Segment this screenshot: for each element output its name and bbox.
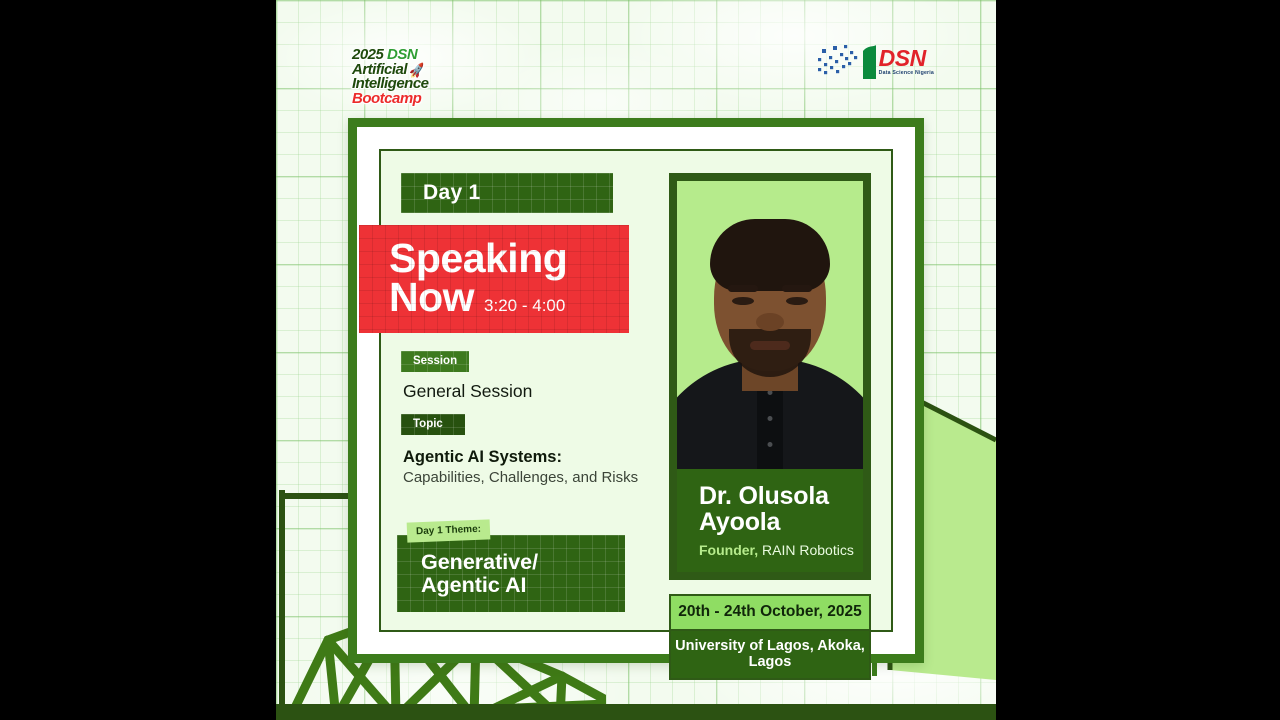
dsn-dots-icon <box>816 44 860 80</box>
speaker-name-box: Dr. Olusola Ayoola Founder, RAIN Robotic… <box>677 469 863 572</box>
day-theme-box: Generative/ Agentic AI <box>397 535 625 612</box>
topic-title: Agentic AI Systems: <box>403 447 649 468</box>
session-info: Session General Session Topic Agentic AI… <box>401 351 649 487</box>
nigeria-flag-icon <box>863 45 876 79</box>
speaker-role-org: RAIN Robotics <box>762 542 854 558</box>
session-time: 3:20 - 4:00 <box>484 296 565 316</box>
speaking-now-line1: Speaking <box>389 239 615 278</box>
day-theme-line2: Agentic AI <box>421 574 611 598</box>
session-chip: Session <box>401 351 469 372</box>
day-badge-label: Day 1 <box>423 181 481 205</box>
floor-bar <box>276 704 996 720</box>
speaker-name-line1: Dr. Olusola <box>699 482 829 510</box>
dsn-logo: DSN Data Science Nigeria <box>816 44 934 80</box>
session-card: Day 1 Speaking Now 3:20 - 4:00 Session G… <box>348 118 924 663</box>
speaker-role: Founder, RAIN Robotics <box>699 542 859 558</box>
session-value: General Session <box>403 381 649 402</box>
speaker-role-prefix: Founder, <box>699 542 758 558</box>
day-badge: Day 1 <box>401 173 613 213</box>
speaking-now-line2: Now <box>389 278 474 317</box>
session-card-inner: Day 1 Speaking Now 3:20 - 4:00 Session G… <box>379 149 893 632</box>
speaker-name: Dr. Olusola Ayoola <box>699 483 859 535</box>
card-right-column: Dr. Olusola Ayoola Founder, RAIN Robotic… <box>669 173 871 612</box>
screenshot-stage: 2025 DSN Artificial🚀 Intelligence Bootca… <box>0 0 1280 720</box>
event-dates: 20th - 24th October, 2025 <box>669 594 871 631</box>
day-theme-section: Day 1 Theme: Generative/ Agentic AI <box>401 519 649 612</box>
event-details: 20th - 24th October, 2025 University of … <box>669 580 871 680</box>
dsn-wordmark: DSN <box>879 47 934 70</box>
speaker-photo-frame: Dr. Olusola Ayoola Founder, RAIN Robotic… <box>669 173 871 580</box>
speaking-now-banner: Speaking Now 3:20 - 4:00 <box>359 225 629 333</box>
topic-subtitle: Capabilities, Challenges, and Risks <box>403 469 649 488</box>
bootcamp-logo: 2025 DSN Artificial🚀 Intelligence Bootca… <box>352 48 429 107</box>
card-left-column: Day 1 Speaking Now 3:20 - 4:00 Session G… <box>401 173 649 612</box>
day-theme-tag: Day 1 Theme: <box>407 519 491 542</box>
topic-chip: Topic <box>401 414 465 435</box>
speaker-portrait <box>677 181 863 469</box>
poster-canvas: 2025 DSN Artificial🚀 Intelligence Bootca… <box>276 0 996 720</box>
event-venue: University of Lagos, Akoka, Lagos <box>669 631 871 680</box>
rocket-icon: 🚀 <box>408 64 425 79</box>
speaker-name-line2: Ayoola <box>699 508 780 536</box>
logo-line-bootcamp: Bootcamp <box>352 90 421 107</box>
dsn-tagline: Data Science Nigeria <box>879 71 934 76</box>
day-theme-line1: Generative/ <box>421 551 611 575</box>
